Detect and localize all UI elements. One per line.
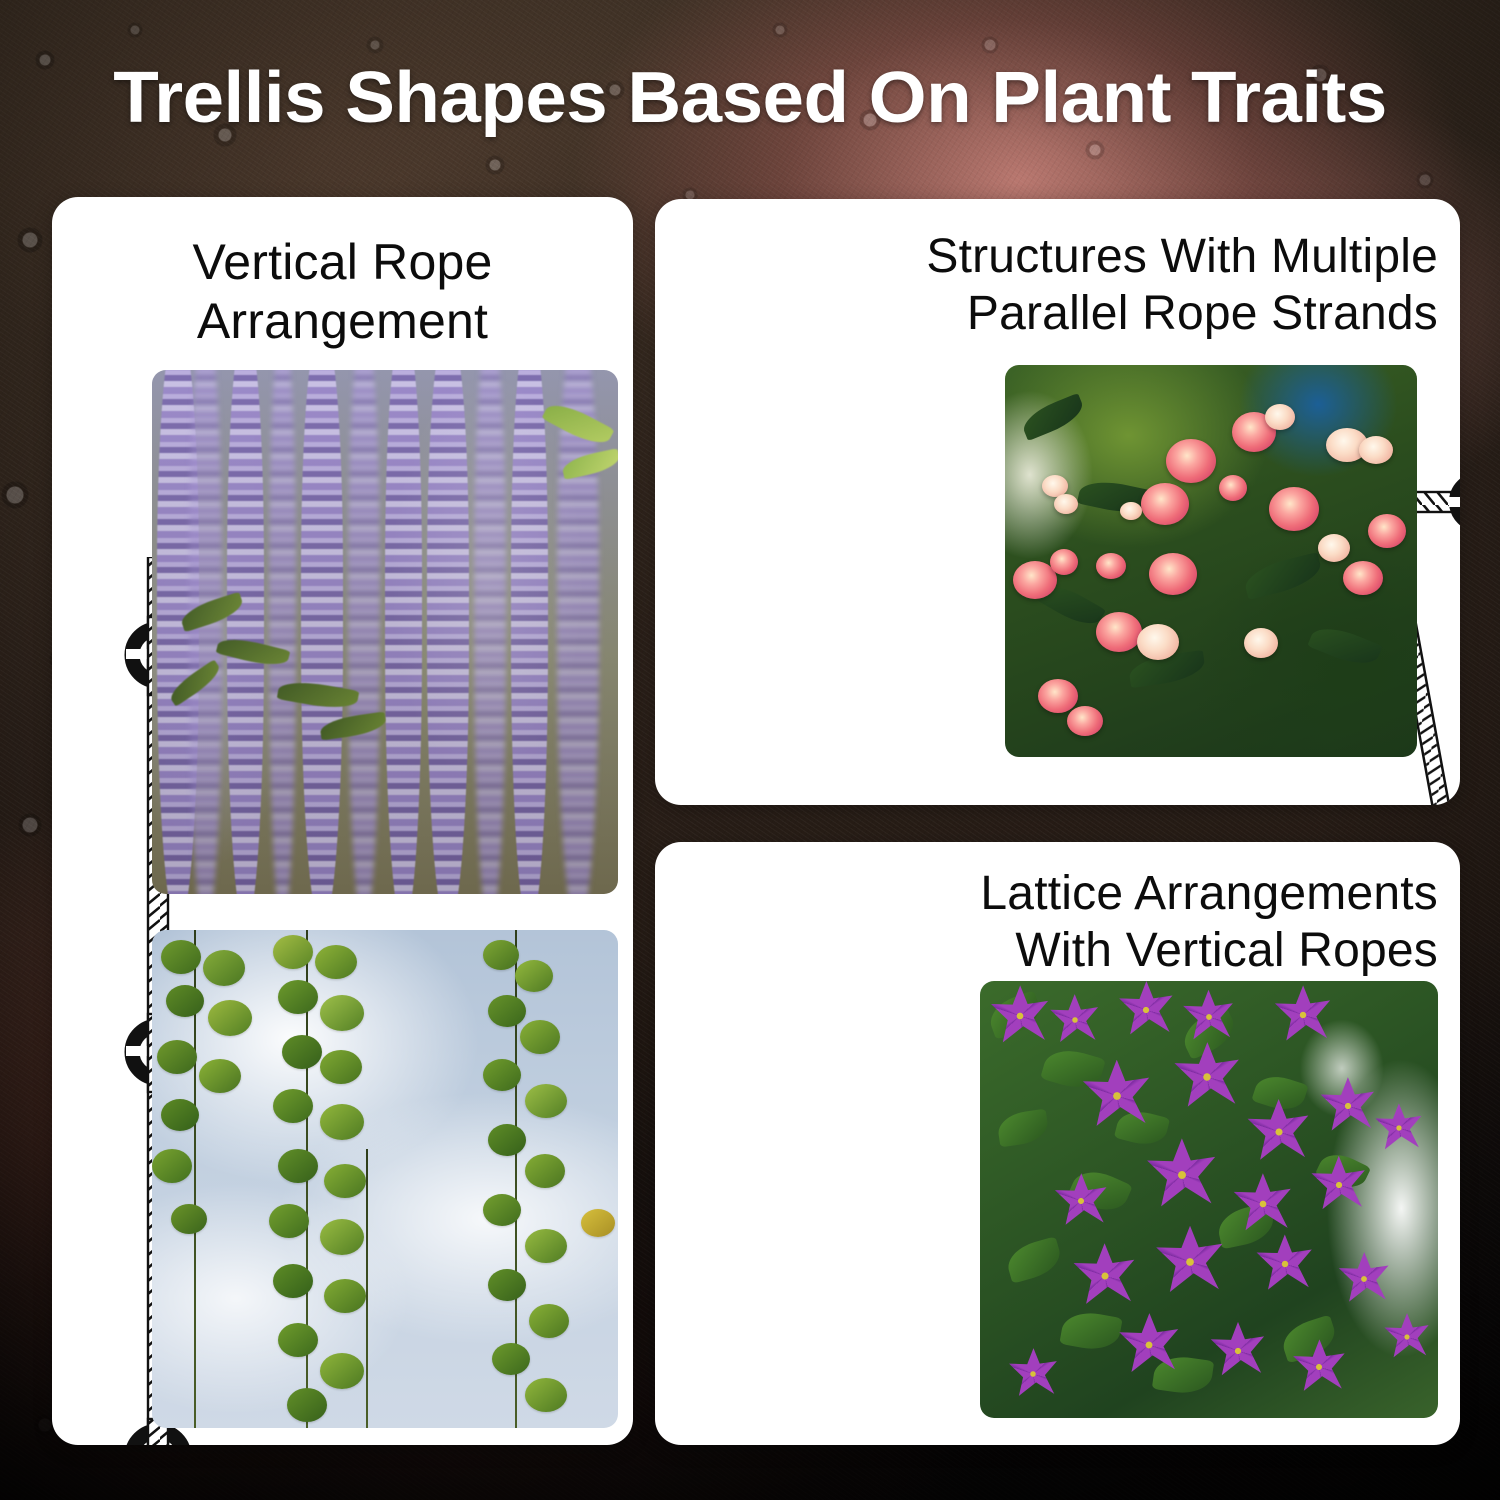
card-lattice-arrangements: Lattice Arrangements With Vertical Ropes xyxy=(655,842,1460,1445)
page-title: Trellis Shapes Based On Plant Traits xyxy=(0,62,1500,134)
card-title-multiple-parallel-strands: Structures With Multiple Parallel Rope S… xyxy=(818,229,1438,342)
climbing-vines-photo xyxy=(152,930,618,1428)
rope-knot-icon-fan-center xyxy=(1449,479,1460,525)
card-title-lattice-arrangements: Lattice Arrangements With Vertical Ropes xyxy=(798,866,1438,979)
clematis-photo xyxy=(980,981,1438,1418)
climbing-roses-photo xyxy=(1005,365,1417,757)
wisteria-photo xyxy=(152,370,618,894)
card-vertical-rope-arrangement: Vertical Rope Arrangement xyxy=(52,197,633,1445)
card-title-vertical-rope: Vertical Rope Arrangement xyxy=(52,233,633,351)
card-multiple-parallel-strands: Structures With Multiple Parallel Rope S… xyxy=(655,199,1460,805)
